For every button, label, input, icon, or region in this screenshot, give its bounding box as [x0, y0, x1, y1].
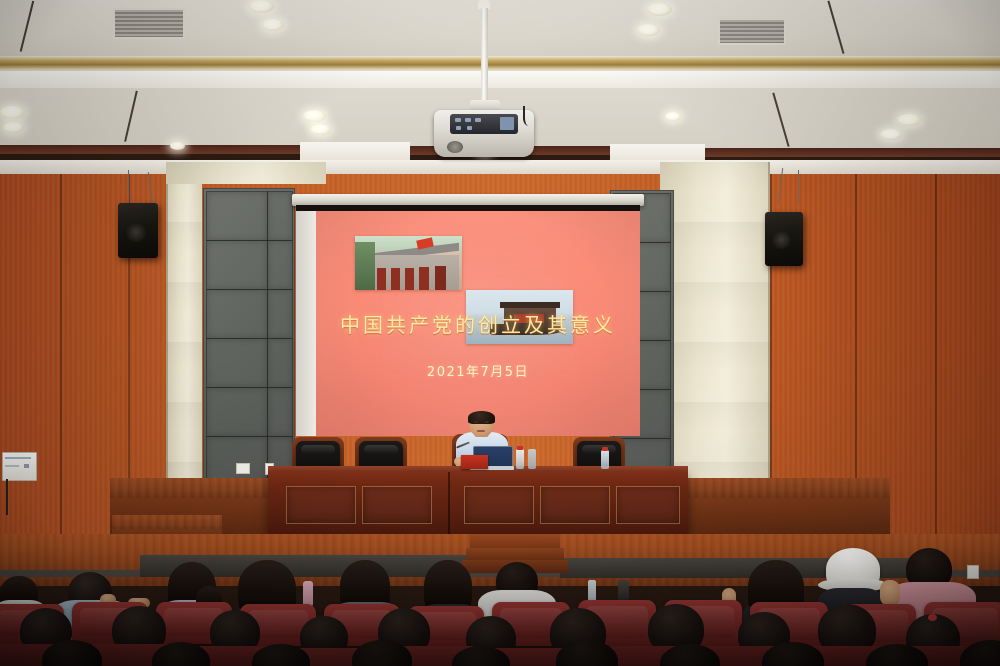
ledge-bottle[interactable] [588, 580, 596, 602]
panel-cell [206, 289, 268, 339]
projector-button [465, 118, 471, 122]
photo-boat-roof [500, 302, 560, 308]
ceiling-dark-reveal [0, 145, 300, 154]
chair-highlight [364, 445, 398, 454]
lecturer-eye [485, 421, 489, 423]
stone-header-left [166, 162, 326, 184]
speaker-wire-left [128, 170, 130, 204]
projector-lens [447, 141, 463, 153]
ceiling-downlight [647, 3, 672, 16]
ceiling-downlight [0, 106, 25, 119]
bottle-cap [517, 446, 523, 450]
ceiling-dark-reveal [700, 148, 1000, 157]
ceiling-downlight [262, 19, 284, 31]
ceiling-downlight [310, 124, 331, 135]
projector-cable [523, 106, 537, 126]
ceiling-downlight [880, 129, 902, 140]
panel-cell [206, 240, 268, 290]
auditorium-photo: 中国共产党的创立及其意义 2021年7月5日 [0, 0, 1000, 666]
chair-highlight [582, 445, 616, 454]
podium-panel [286, 486, 356, 524]
audience-hair-clip [928, 614, 937, 621]
ceiling-white-band [0, 71, 1000, 89]
pilaster-edge [166, 162, 168, 482]
water-bottle[interactable] [528, 449, 536, 469]
panel-cell [267, 240, 293, 290]
panel-cell [206, 191, 268, 241]
ceiling-air-vent [718, 18, 786, 45]
panel-cell [267, 338, 293, 388]
chair-highlight [301, 445, 335, 454]
ceiling-downlight [303, 110, 326, 122]
stone-pilaster-right [660, 162, 770, 482]
wall-panel-cable [6, 479, 8, 515]
ceiling-downlight [170, 142, 185, 150]
speaker-driver-left [126, 222, 146, 242]
projector-button [500, 117, 514, 130]
slide-title: 中国共产党的创立及其意义 [316, 313, 640, 337]
photo-door [405, 268, 414, 290]
panel-line [5, 457, 31, 459]
speaker-wire-right [798, 170, 800, 204]
slide-photo-first-congress-site [355, 236, 462, 290]
audience-arm [880, 580, 900, 606]
ceiling-air-vent [113, 8, 185, 39]
panel-line [24, 464, 29, 468]
water-bottle[interactable] [516, 449, 524, 469]
ledge-cup[interactable] [618, 580, 629, 602]
speaker-driver-right [772, 230, 791, 249]
panel-cell [206, 387, 268, 437]
podium-panel [362, 486, 432, 524]
ceiling-soffit [300, 142, 410, 162]
ceiling-downlight [897, 114, 921, 126]
photo-trees [355, 242, 375, 290]
ceiling-downlight [3, 122, 24, 133]
stage-wall-plate [236, 463, 250, 474]
photo-door [435, 266, 446, 290]
lecturer-mouth [477, 430, 485, 432]
podium-panel [616, 486, 680, 524]
wall-seam [60, 162, 62, 582]
projector-mount-pole [481, 8, 488, 106]
panel-line [5, 465, 19, 467]
panel-cell [267, 387, 293, 437]
water-bottle[interactable] [601, 450, 609, 469]
photo-door [419, 267, 429, 290]
ceiling-downlight [637, 24, 660, 36]
ceiling-downlight [665, 112, 681, 121]
projector-button [456, 126, 461, 130]
projector-button [455, 118, 461, 122]
slide-date: 2021年7月5日 [316, 365, 640, 381]
screen-left-border [296, 211, 316, 436]
ceiling-downlight [249, 0, 274, 13]
aisle-step [470, 534, 560, 548]
panel-cell [206, 338, 268, 388]
panel-cell [267, 289, 293, 339]
podium-panel [464, 486, 534, 524]
photo-door [377, 268, 386, 290]
pilaster-edge [768, 162, 770, 482]
ceiling-gold-trim [0, 56, 1000, 72]
panel-cell [267, 191, 293, 241]
podium-seam [448, 472, 450, 534]
rear-wall-plate [967, 565, 979, 579]
wall-seam [935, 162, 937, 582]
lecturer-eye [474, 421, 478, 423]
stone-pilaster-left [166, 162, 202, 482]
podium-panel [540, 486, 610, 524]
lecturer-nameplate [461, 455, 488, 469]
projector-button [475, 118, 481, 122]
bottle-cap [602, 447, 608, 451]
ceiling-lower-edge [0, 160, 1000, 174]
lecturer-hair [468, 411, 495, 424]
photo-door [391, 268, 400, 290]
projector-button [467, 126, 472, 130]
